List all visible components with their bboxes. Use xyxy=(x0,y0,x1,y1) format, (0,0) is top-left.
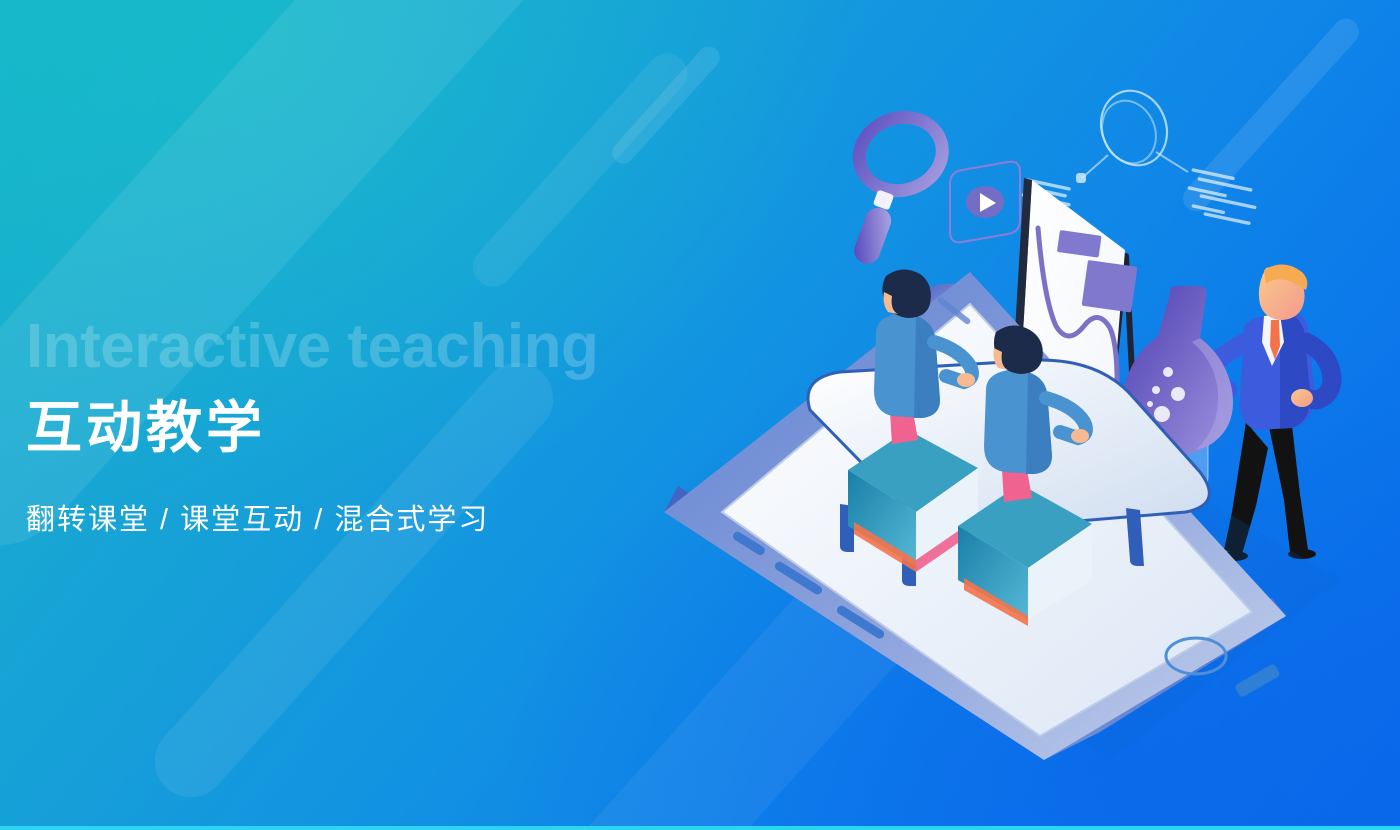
hero-banner: Interactive teaching 互动教学 翻转课堂 / 课堂互动 / … xyxy=(0,0,1400,830)
video-play-icon xyxy=(950,162,1020,243)
bottom-accent-bar xyxy=(0,826,1400,830)
ghost-headline: Interactive teaching xyxy=(26,316,786,378)
page-subtitle: 翻转课堂 / 课堂互动 / 混合式学习 xyxy=(26,496,786,538)
magnifier-icon xyxy=(813,107,971,274)
page-title: 互动教学 xyxy=(26,398,786,458)
hero-copy: Interactive teaching 互动教学 翻转课堂 / 课堂互动 / … xyxy=(26,316,786,538)
